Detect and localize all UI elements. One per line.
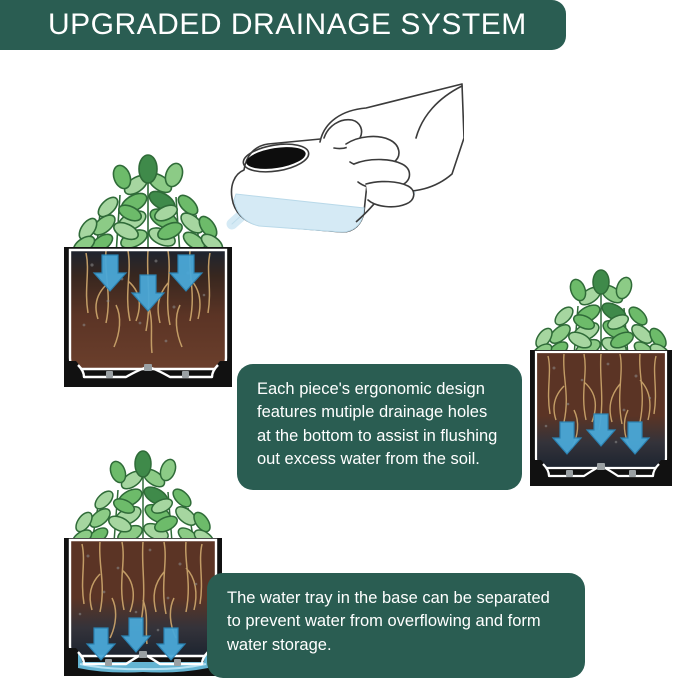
hand-pouring-watering-can (224, 82, 464, 282)
callout-drainage-holes-text: Each piece's ergonomic design features m… (257, 378, 504, 472)
page-title: UPGRADED DRAINAGE SYSTEM (0, 8, 527, 42)
callout-water-tray-text: The water tray in the base can be separa… (227, 587, 567, 657)
callout-drainage-holes: Each piece's ergonomic design features m… (237, 364, 522, 490)
callout-water-tray: The water tray in the base can be separa… (207, 573, 585, 678)
planter-draining-cross-section (516, 272, 679, 502)
planter-pot-body (64, 247, 232, 387)
plant-foliage (70, 155, 225, 257)
plant-foliage (70, 451, 217, 549)
planter-watering-cross-section (48, 155, 248, 400)
planter-pot-body (64, 538, 222, 676)
infographic-canvas: UPGRADED DRAINAGE SYSTEM (0, 0, 679, 690)
plant-foliage (530, 270, 673, 363)
header-banner: UPGRADED DRAINAGE SYSTEM (0, 0, 566, 50)
